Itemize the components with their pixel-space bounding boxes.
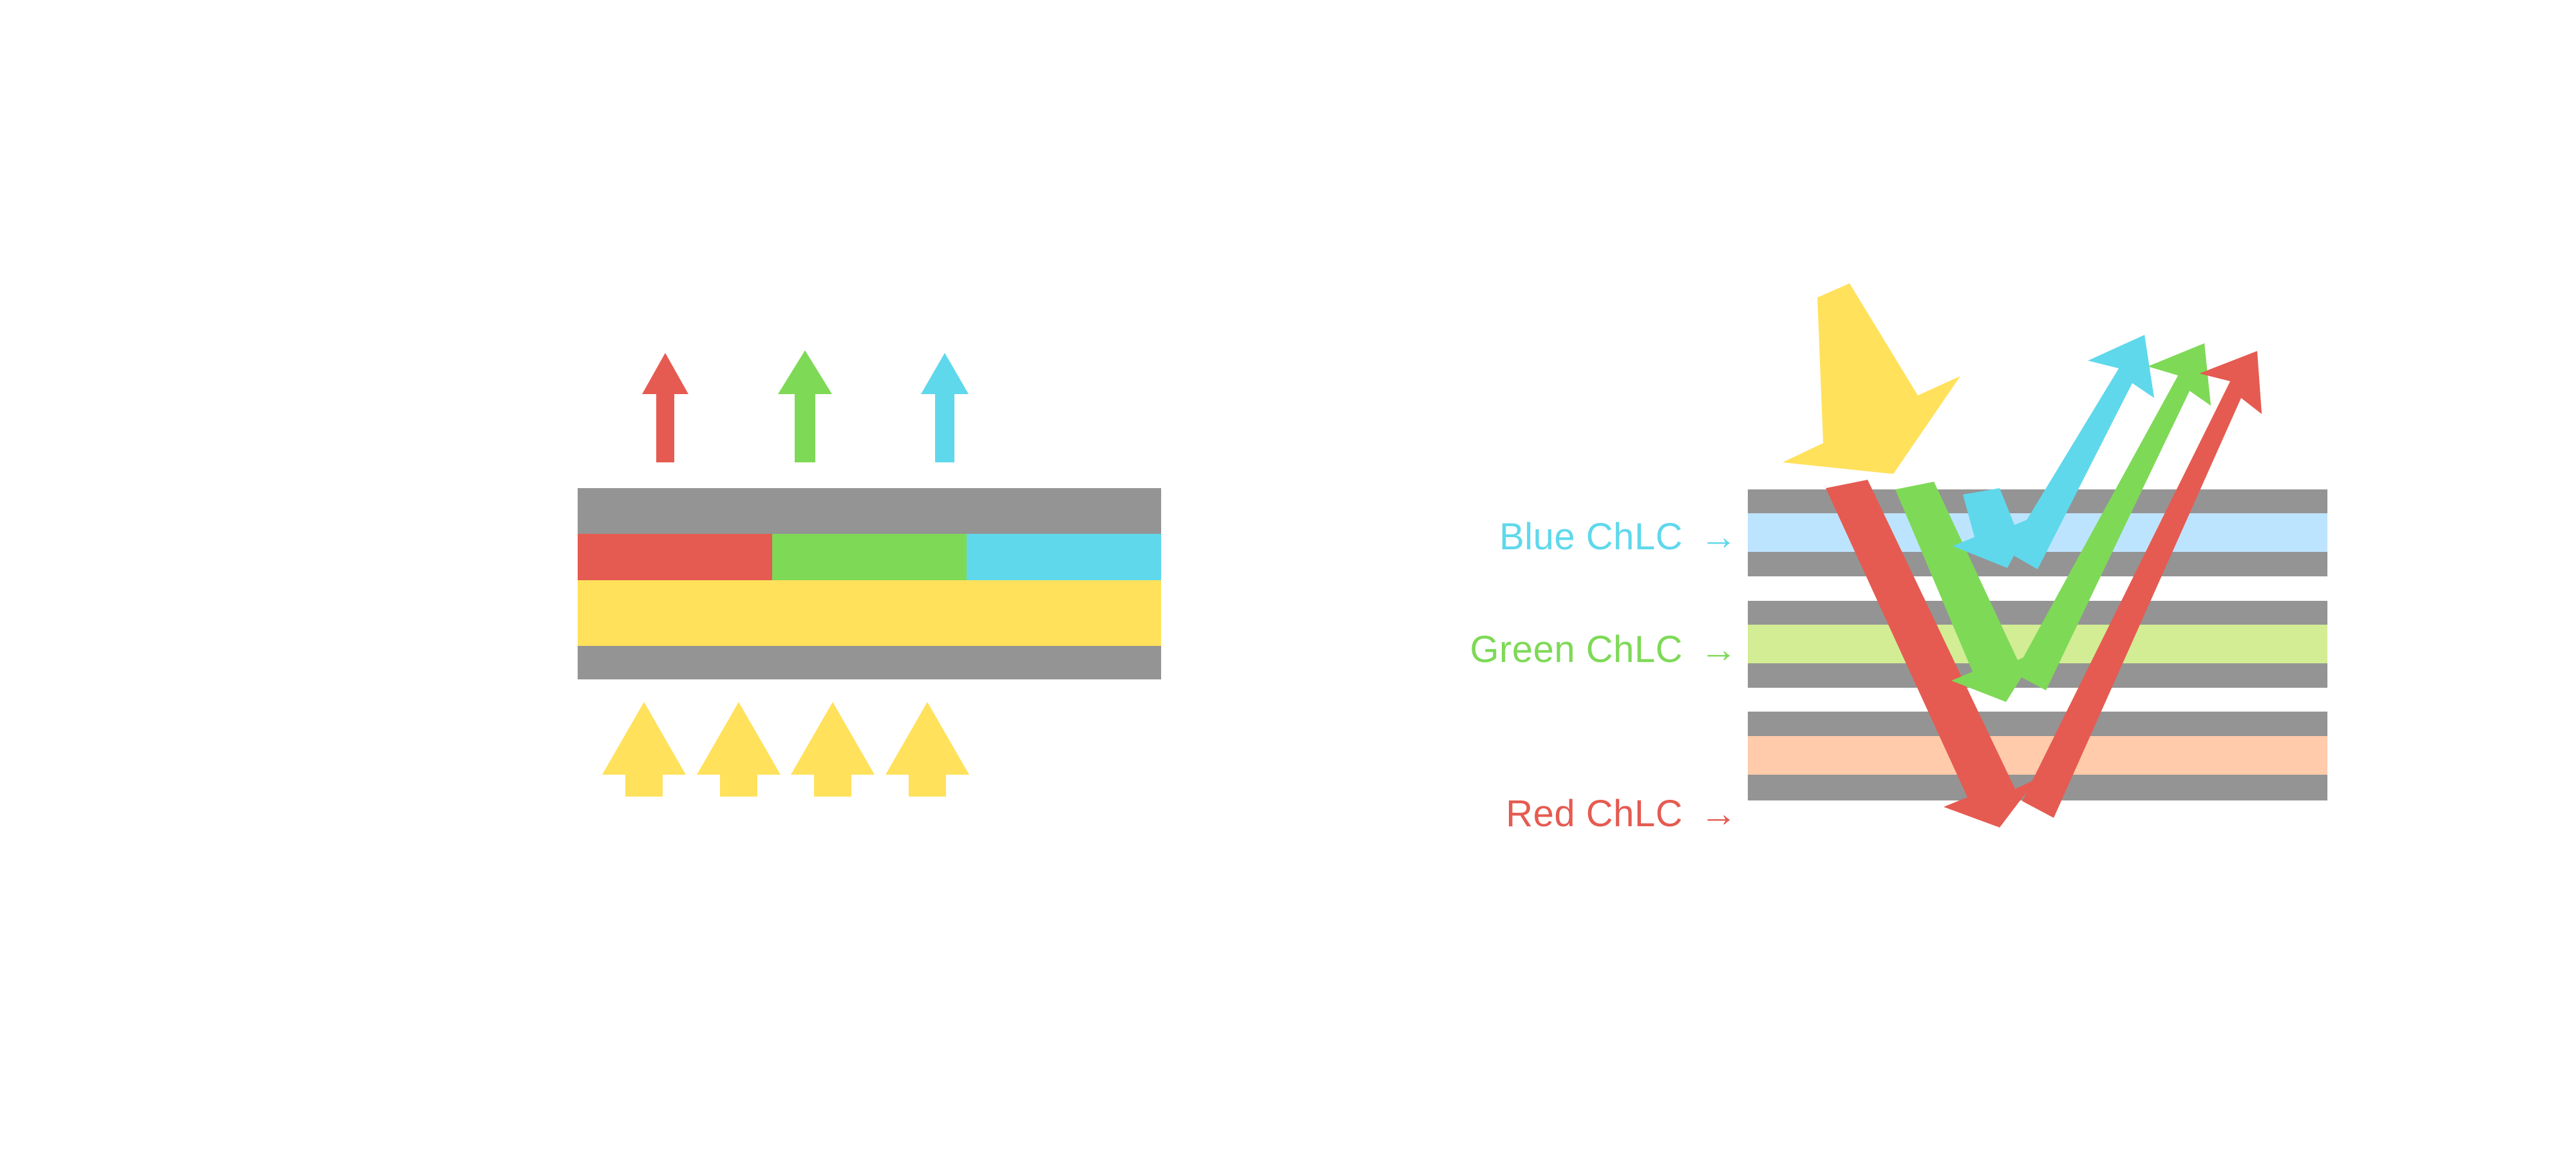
label-red-chlc-arrow-icon: →	[1700, 793, 1738, 835]
left-transmissive-panel	[578, 350, 1161, 797]
left-layer-color-filter-green	[772, 534, 967, 580]
label-blue-chlc-arrow-icon: →	[1700, 516, 1738, 558]
label-red-chlc: Red ChLC →	[1403, 792, 1738, 835]
label-blue-chlc: Blue ChLC →	[1403, 515, 1738, 558]
right-layer-green-top-electrode	[1748, 601, 2327, 625]
left-layer-bottom-electrode	[578, 646, 1161, 679]
label-red-chlc-text: Red ChLC	[1506, 793, 1683, 835]
diagram-svg	[0, 0, 2576, 1154]
emitted-green-arrow	[778, 350, 832, 462]
backlight-arrow-2	[697, 702, 781, 797]
label-blue-chlc-text: Blue ChLC	[1499, 516, 1683, 558]
left-layer-color-filter-blue	[967, 534, 1161, 580]
left-layer-top-electrode	[578, 488, 1161, 534]
diagram-canvas: Blue ChLC → Green ChLC → Red ChLC →	[0, 0, 2576, 1154]
label-green-chlc: Green ChLC →	[1364, 628, 1738, 671]
backlight-arrow-1	[602, 702, 686, 797]
left-layer-backlight	[578, 580, 1161, 646]
right-layer-red-top-electrode	[1748, 712, 2327, 736]
label-green-chlc-arrow-icon: →	[1700, 629, 1738, 670]
ambient-light-arrow	[1783, 283, 1960, 474]
right-layer-red-chlc	[1748, 736, 2327, 775]
backlight-arrow-4	[885, 702, 969, 797]
backlight-arrow-3	[791, 702, 875, 797]
emitted-red-arrow	[642, 353, 688, 462]
right-reflective-panel	[1748, 283, 2327, 828]
emitted-cyan-arrow	[921, 353, 969, 462]
left-layer-color-filter-red	[578, 534, 772, 580]
label-green-chlc-text: Green ChLC	[1470, 629, 1683, 670]
